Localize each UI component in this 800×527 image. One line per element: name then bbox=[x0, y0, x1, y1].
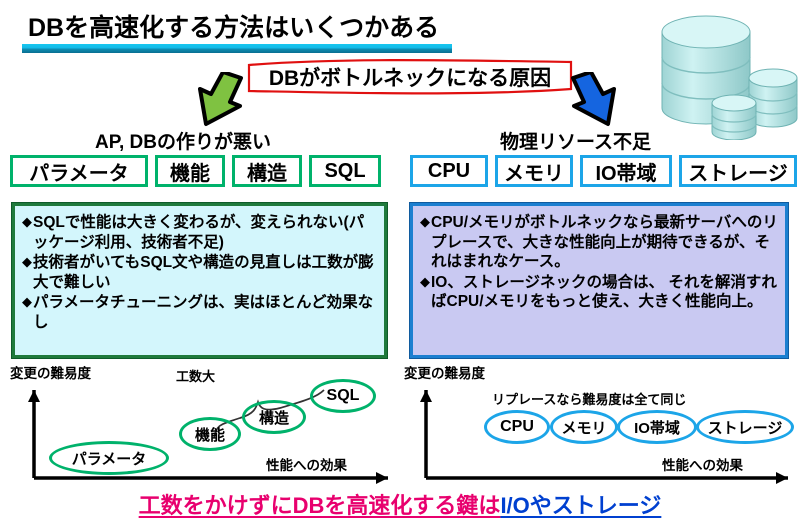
left-chart-ylabel: 変更の難易度 bbox=[10, 362, 91, 382]
tag-storage[interactable]: ストレージ bbox=[679, 155, 797, 187]
bullet-text: パラメータチューニングは、実はほとんど効果なし bbox=[33, 293, 378, 332]
bubble-io-band[interactable]: IO帯域 bbox=[617, 410, 697, 444]
right-bullet-box: ◆ CPU/メモリがボトルネックなら最新サーバへのリプレースで、大きな性能向上が… bbox=[410, 203, 788, 358]
title-underline-rule bbox=[22, 44, 452, 53]
tag-parameter[interactable]: パラメータ bbox=[10, 155, 148, 187]
down-left-arrow-green-icon bbox=[186, 72, 248, 134]
left-chart-xlabel: 性能への効果 bbox=[266, 454, 347, 474]
left-column-heading: AP, DBの作りが悪い bbox=[95, 127, 271, 154]
bubble-storage[interactable]: ストレージ bbox=[696, 410, 794, 444]
right-tag-row: CPU メモリ IO帯域 ストレージ bbox=[410, 155, 797, 187]
left-scatter-chart: 変更の難易度 性能への効果 工数大 パラメータ 機能 構造 SQL bbox=[4, 362, 398, 484]
bubble-cpu[interactable]: CPU bbox=[484, 410, 550, 444]
list-item: ◆ IO、ストレージネックの場合は、 それを解消すればCPU/メモリをもっと使え… bbox=[420, 273, 779, 312]
tag-cpu[interactable]: CPU bbox=[410, 155, 488, 187]
tag-structure[interactable]: 構造 bbox=[232, 155, 302, 187]
tag-io-band[interactable]: IO帯域 bbox=[580, 155, 672, 187]
right-scatter-chart: 変更の難易度 性能への効果 リプレースなら難易度は全て同じ CPU メモリ IO… bbox=[404, 362, 798, 484]
diamond-bullet-icon: ◆ bbox=[420, 213, 430, 232]
down-right-arrow-blue-icon bbox=[566, 72, 628, 134]
bottleneck-banner: DBがボトルネックになる原因 bbox=[245, 58, 575, 96]
tag-sql[interactable]: SQL bbox=[309, 155, 381, 187]
list-item: ◆ パラメータチューニングは、実はほとんど効果なし bbox=[22, 293, 378, 332]
left-chart-annotation: 工数大 bbox=[176, 366, 215, 385]
footer-text-part2: I/Oやストレージ bbox=[500, 493, 661, 518]
list-item: ◆ 技術者がいてもSQL文や構造の見直しは工数が膨大で難しい bbox=[22, 253, 378, 292]
diamond-bullet-icon: ◆ bbox=[420, 273, 430, 292]
bullet-text: IO、ストレージネックの場合は、 それを解消すればCPU/メモリをもっと使え、大… bbox=[431, 273, 779, 312]
page-title: DBを高速化する方法はいくつかある bbox=[28, 8, 439, 44]
right-chart-annotation: リプレースなら難易度は全て同じ bbox=[492, 389, 686, 408]
list-item: ◆ CPU/メモリがボトルネックなら最新サーバへのリプレースで、大きな性能向上が… bbox=[420, 213, 779, 272]
diamond-bullet-icon: ◆ bbox=[22, 253, 32, 272]
tag-function[interactable]: 機能 bbox=[155, 155, 225, 187]
bubble-memory[interactable]: メモリ bbox=[550, 410, 618, 444]
tag-memory[interactable]: メモリ bbox=[495, 155, 573, 187]
bullet-text: 技術者がいてもSQL文や構造の見直しは工数が膨大で難しい bbox=[33, 253, 378, 292]
diamond-bullet-icon: ◆ bbox=[22, 213, 32, 232]
right-chart-xlabel: 性能への効果 bbox=[662, 454, 743, 474]
diamond-bullet-icon: ◆ bbox=[22, 293, 32, 312]
bubble-parameter[interactable]: パラメータ bbox=[49, 441, 169, 475]
bullet-text: SQLで性能は大きく変わるが、変えられない(パッケージ利用、技術者不足) bbox=[33, 213, 378, 252]
database-cylinder-stack-icon bbox=[650, 4, 798, 140]
right-column-heading: 物理リソース不足 bbox=[500, 127, 651, 154]
left-tag-row: パラメータ 機能 構造 SQL bbox=[10, 155, 381, 187]
footer-conclusion: 工数をかけずにDBを高速化する鍵はI/Oやストレージ bbox=[0, 488, 800, 520]
bubble-function[interactable]: 機能 bbox=[179, 417, 241, 451]
banner-text: DBがボトルネックになる原因 bbox=[245, 58, 575, 96]
bubble-sql[interactable]: SQL bbox=[310, 379, 376, 413]
bubble-structure[interactable]: 構造 bbox=[242, 400, 306, 434]
right-chart-ylabel: 変更の難易度 bbox=[404, 362, 485, 382]
left-bullet-box: ◆ SQLで性能は大きく変わるが、変えられない(パッケージ利用、技術者不足) ◆… bbox=[12, 203, 387, 358]
footer-text-part1: 工数をかけずにDBを高速化する鍵は bbox=[139, 493, 501, 518]
slide-canvas: DBを高速化する方法はいくつかある bbox=[0, 0, 800, 527]
bullet-text: CPU/メモリがボトルネックなら最新サーバへのリプレースで、大きな性能向上が期待… bbox=[431, 213, 779, 272]
list-item: ◆ SQLで性能は大きく変わるが、変えられない(パッケージ利用、技術者不足) bbox=[22, 213, 378, 252]
